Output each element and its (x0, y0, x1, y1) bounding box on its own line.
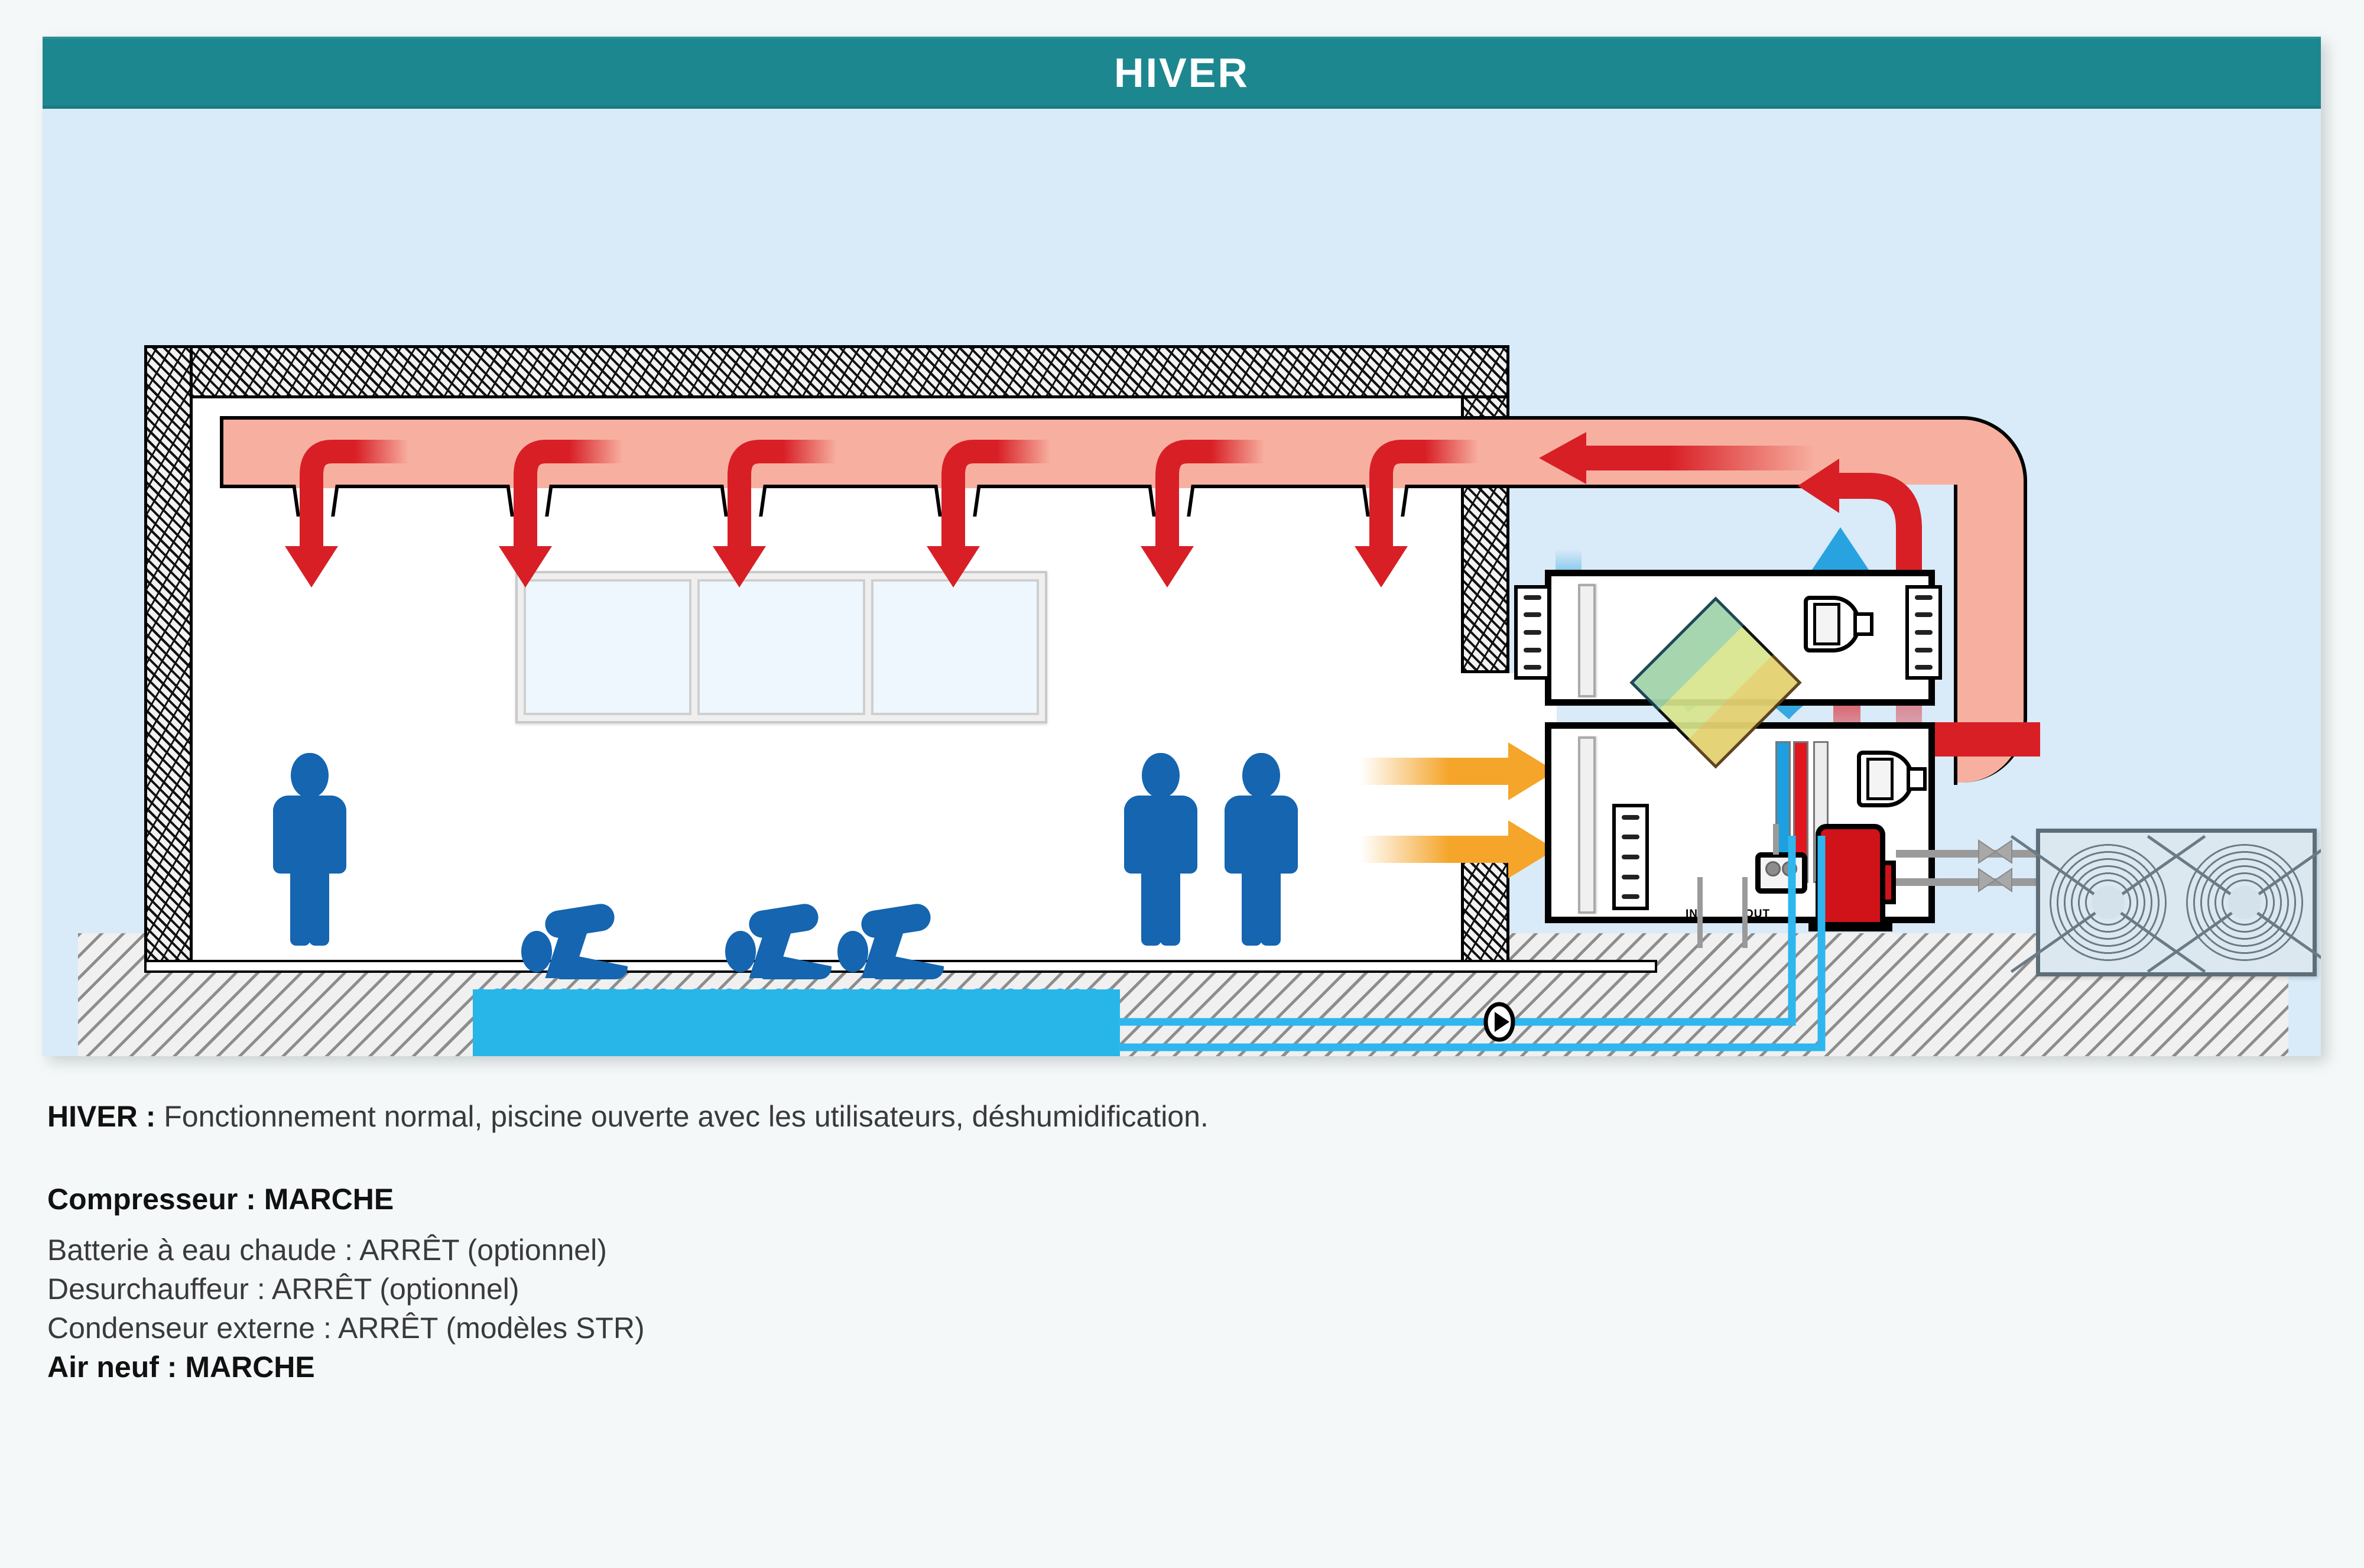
hvac-scene: IN OUT (43, 109, 2321, 1056)
circulation-pump-icon (1486, 1004, 1513, 1040)
caption-intro-label: HIVER : (47, 1100, 155, 1133)
status-compressor: Compresseur : MARCHE (47, 1180, 2057, 1219)
season-title: HIVER (1114, 49, 1249, 96)
caption-intro: HIVER : Fonctionnement normal, piscine o… (47, 1099, 2057, 1134)
season-header: HIVER (43, 37, 2321, 109)
caption-block: HIVER : Fonctionnement normal, piscine o… (47, 1099, 2057, 1387)
status-desuperheater: Desurchauffeur : ARRÊT (optionnel) (47, 1270, 2057, 1309)
caption-intro-text: Fonctionnement normal, piscine ouverte a… (155, 1100, 1208, 1133)
status-fresh-air: Air neuf : MARCHE (47, 1348, 2057, 1387)
status-hot-water-coil: Batterie à eau chaude : ARRÊT (optionnel… (47, 1231, 2057, 1270)
diagram-panel: HIVER (43, 37, 2321, 1056)
status-external-condenser: Condenseur externe : ARRÊT (modèles STR) (47, 1309, 2057, 1348)
pool-water-circuit (43, 109, 2321, 1056)
